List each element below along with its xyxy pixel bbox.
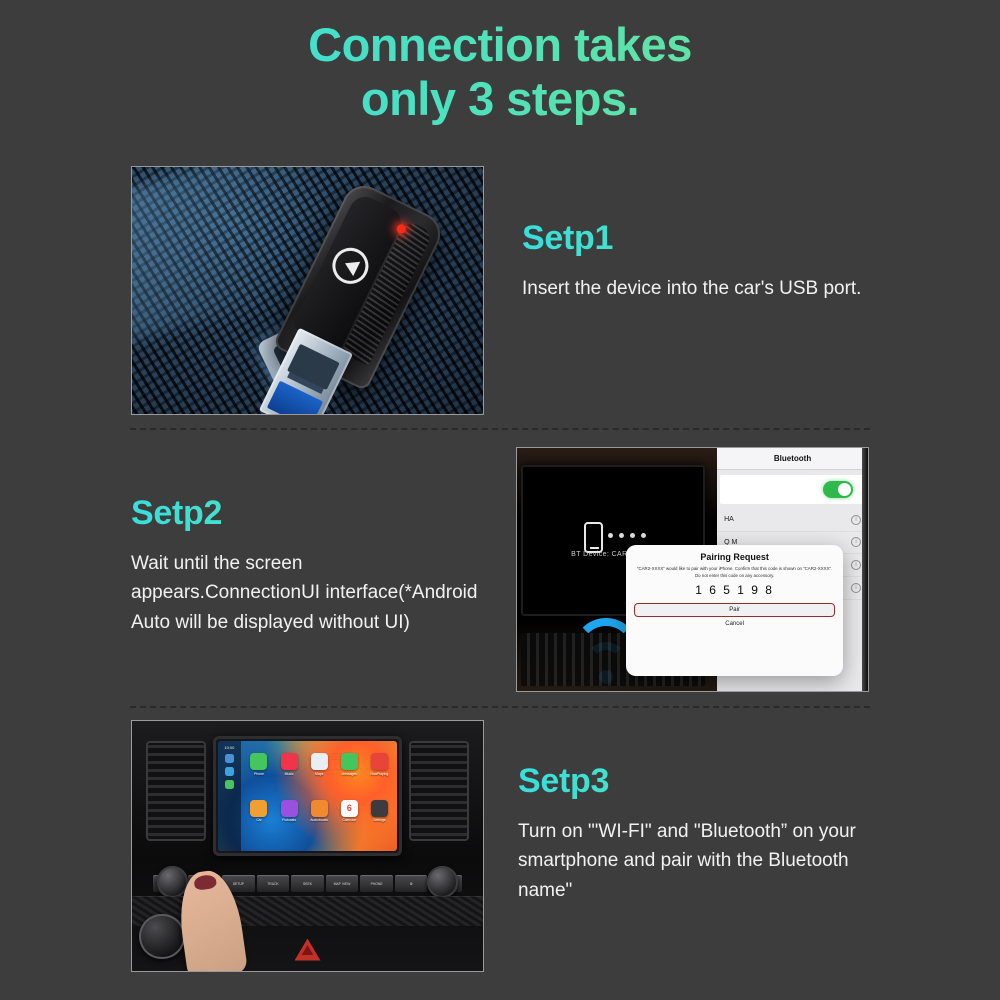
air-vent-right (409, 741, 469, 841)
now-playing-icon (371, 753, 388, 770)
app-label: Car (256, 818, 261, 822)
phone-button[interactable]: PHONE (360, 875, 393, 893)
carplay-app[interactable]: Messages (337, 753, 362, 796)
carplay-app[interactable]: Car (246, 800, 271, 843)
divider-1 (130, 428, 870, 430)
carplay-screen[interactable]: 10:00 Phone Music M (218, 741, 398, 851)
podcasts-icon (281, 800, 298, 817)
bluetooth-toggle[interactable] (823, 481, 853, 498)
step-1-image (131, 166, 484, 415)
device-name: HA (724, 516, 734, 523)
app-label: Messages (342, 772, 357, 776)
book-icon (311, 800, 328, 817)
sidebar-phone-icon[interactable] (225, 780, 234, 789)
seek-button[interactable]: SEEK (291, 875, 324, 893)
air-vent-left (146, 741, 206, 841)
dialog-body: “CAR2-XXXX” would like to pair with your… (634, 566, 836, 579)
carplay-app[interactable]: Podcasts (277, 800, 302, 843)
title-line-2: only 3 steps. (0, 72, 1000, 126)
bluetooth-nav-title: Bluetooth (774, 454, 811, 463)
carplay-app[interactable]: Audiobooks (307, 800, 332, 843)
carplay-app[interactable]: 6 Calendar (337, 800, 362, 843)
car-audio-icon (250, 800, 267, 817)
carplay-sidebar[interactable]: 10:00 (218, 741, 241, 851)
pairing-code: 1 6 5 1 9 8 (634, 583, 836, 597)
pair-button[interactable]: Pair (634, 603, 836, 617)
tune-knob[interactable] (427, 866, 459, 898)
step-3-heading: Setp3 (518, 762, 893, 801)
map-view-button[interactable]: MAP VIEW (326, 875, 359, 893)
app-label: NowPlaying (370, 772, 388, 776)
app-label: Settings (373, 818, 385, 822)
info-icon[interactable]: i (851, 537, 861, 547)
info-icon[interactable]: i (851, 560, 861, 570)
gear-button-icon[interactable]: ⚙ (395, 875, 428, 893)
step-3-image: 10:00 Phone Music M (131, 720, 484, 972)
step-3-body: Turn on "'WI-FI" and "Bluetooth” on your… (518, 817, 893, 905)
step-2-image: BT Device: CAR2-XXXX Bluetooth HA i Q (516, 447, 869, 692)
dialog-title: Pairing Request (634, 552, 836, 562)
calendar-icon: 6 (341, 800, 358, 817)
info-icon[interactable]: i (851, 583, 861, 593)
maps-icon (311, 753, 328, 770)
track-button[interactable]: TRACK (257, 875, 290, 893)
step-1-heading: Setp1 (522, 219, 882, 258)
carplay-app[interactable]: Phone (246, 753, 271, 796)
connecting-dots-icon (608, 533, 646, 538)
phone-icon (250, 753, 267, 770)
info-icon[interactable]: i (851, 515, 861, 525)
play-triangle-icon (326, 241, 374, 289)
step-2-body: Wait until the screen appears.Connection… (131, 549, 491, 637)
phone-edge (862, 448, 868, 691)
step-1-body: Insert the device into the car's USB por… (522, 274, 882, 303)
sidebar-music-icon[interactable] (225, 767, 234, 776)
head-unit-bezel: 10:00 Phone Music M (213, 736, 403, 856)
gear-icon (371, 800, 388, 817)
divider-2 (130, 706, 870, 708)
bluetooth-toggle-row[interactable] (720, 475, 865, 504)
carplay-app[interactable]: NowPlaying (367, 753, 392, 796)
carplay-clock: 10:00 (224, 745, 234, 750)
cancel-button[interactable]: Cancel (634, 621, 836, 627)
phone-outline-icon (584, 522, 603, 553)
title-line-1: Connection takes (308, 18, 692, 71)
step-2-heading: Setp2 (131, 494, 491, 533)
step-2-text: Setp2 Wait until the screen appears.Conn… (131, 494, 491, 637)
app-label: Maps (315, 772, 323, 776)
app-label: Calendar (342, 818, 356, 822)
message-bubble-icon (341, 753, 358, 770)
step-1-text: Setp1 Insert the device into the car's U… (522, 219, 882, 303)
carplay-app-grid[interactable]: Phone Music Maps Messages (246, 753, 391, 842)
engine-start-button[interactable] (139, 914, 185, 960)
carplay-app[interactable]: Settings (367, 800, 392, 843)
infographic-page: Connection takes only 3 steps. Setp1 Ins… (0, 0, 1000, 1000)
pairing-request-dialog: Pairing Request “CAR2-XXXX” would like t… (626, 545, 844, 676)
app-label: Audiobooks (310, 818, 328, 822)
page-title: Connection takes only 3 steps. (0, 18, 1000, 126)
sidebar-maps-icon[interactable] (225, 754, 234, 763)
app-label: Podcasts (282, 818, 296, 822)
carplay-app[interactable]: Maps (307, 753, 332, 796)
step-3-text: Setp3 Turn on "'WI-FI" and "Bluetooth” o… (518, 762, 893, 905)
phone-nav-bar: Bluetooth (717, 448, 868, 470)
app-label: Music (285, 772, 294, 776)
list-item[interactable]: HA i (717, 509, 868, 532)
app-label: Phone (254, 772, 264, 776)
carplay-app[interactable]: Music (277, 753, 302, 796)
music-note-icon (281, 753, 298, 770)
